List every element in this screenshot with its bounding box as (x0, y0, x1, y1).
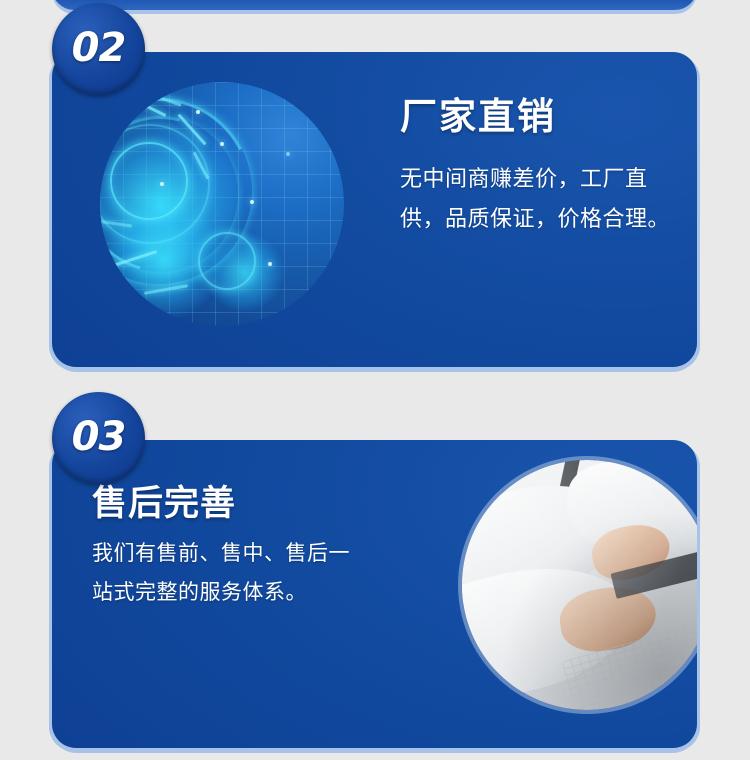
feature-card-03[interactable]: 售后完善 我们有售前、售中、售后一站式完整的服务体系。 (52, 440, 697, 748)
tech-spark-5 (160, 182, 164, 186)
promo-card-stage: 厂家直销 无中间商赚差价，工厂直供，品质保证，价格合理。 02 售后完善 我们有… (0, 0, 750, 760)
previous-card-sliver (52, 0, 697, 10)
card-03-number: 03 (72, 417, 126, 457)
tech-spark-2 (250, 200, 254, 204)
tech-spark-4 (268, 262, 272, 266)
card-03-text: 售后完善 我们有售前、售中、售后一站式完整的服务体系。 (92, 485, 360, 613)
card-03-number-badge: 03 (52, 392, 145, 484)
tech-ring-node (198, 232, 256, 290)
card-03-description: 我们有售前、售中、售后一站式完整的服务体系。 (92, 534, 360, 614)
card-02-number-badge: 02 (52, 3, 145, 95)
tech-spark-3 (196, 110, 200, 114)
card-03-title: 售后完善 (92, 485, 360, 524)
card-02-number: 02 (72, 28, 126, 68)
card-02-description: 无中间商赚差价，工厂直供，品质保证，价格合理。 (400, 160, 670, 241)
tech-globe-image (100, 82, 344, 326)
photo-shading (462, 460, 697, 710)
feature-card-02[interactable]: 厂家直销 无中间商赚差价，工厂直供，品质保证，价格合理。 (52, 52, 697, 367)
office-typing-photo (462, 460, 697, 710)
card-02-title: 厂家直销 (400, 97, 670, 138)
tech-spark-1 (220, 142, 224, 146)
tech-spark-6 (286, 152, 290, 156)
card-02-text: 厂家直销 无中间商赚差价，工厂直供，品质保证，价格合理。 (400, 97, 670, 241)
